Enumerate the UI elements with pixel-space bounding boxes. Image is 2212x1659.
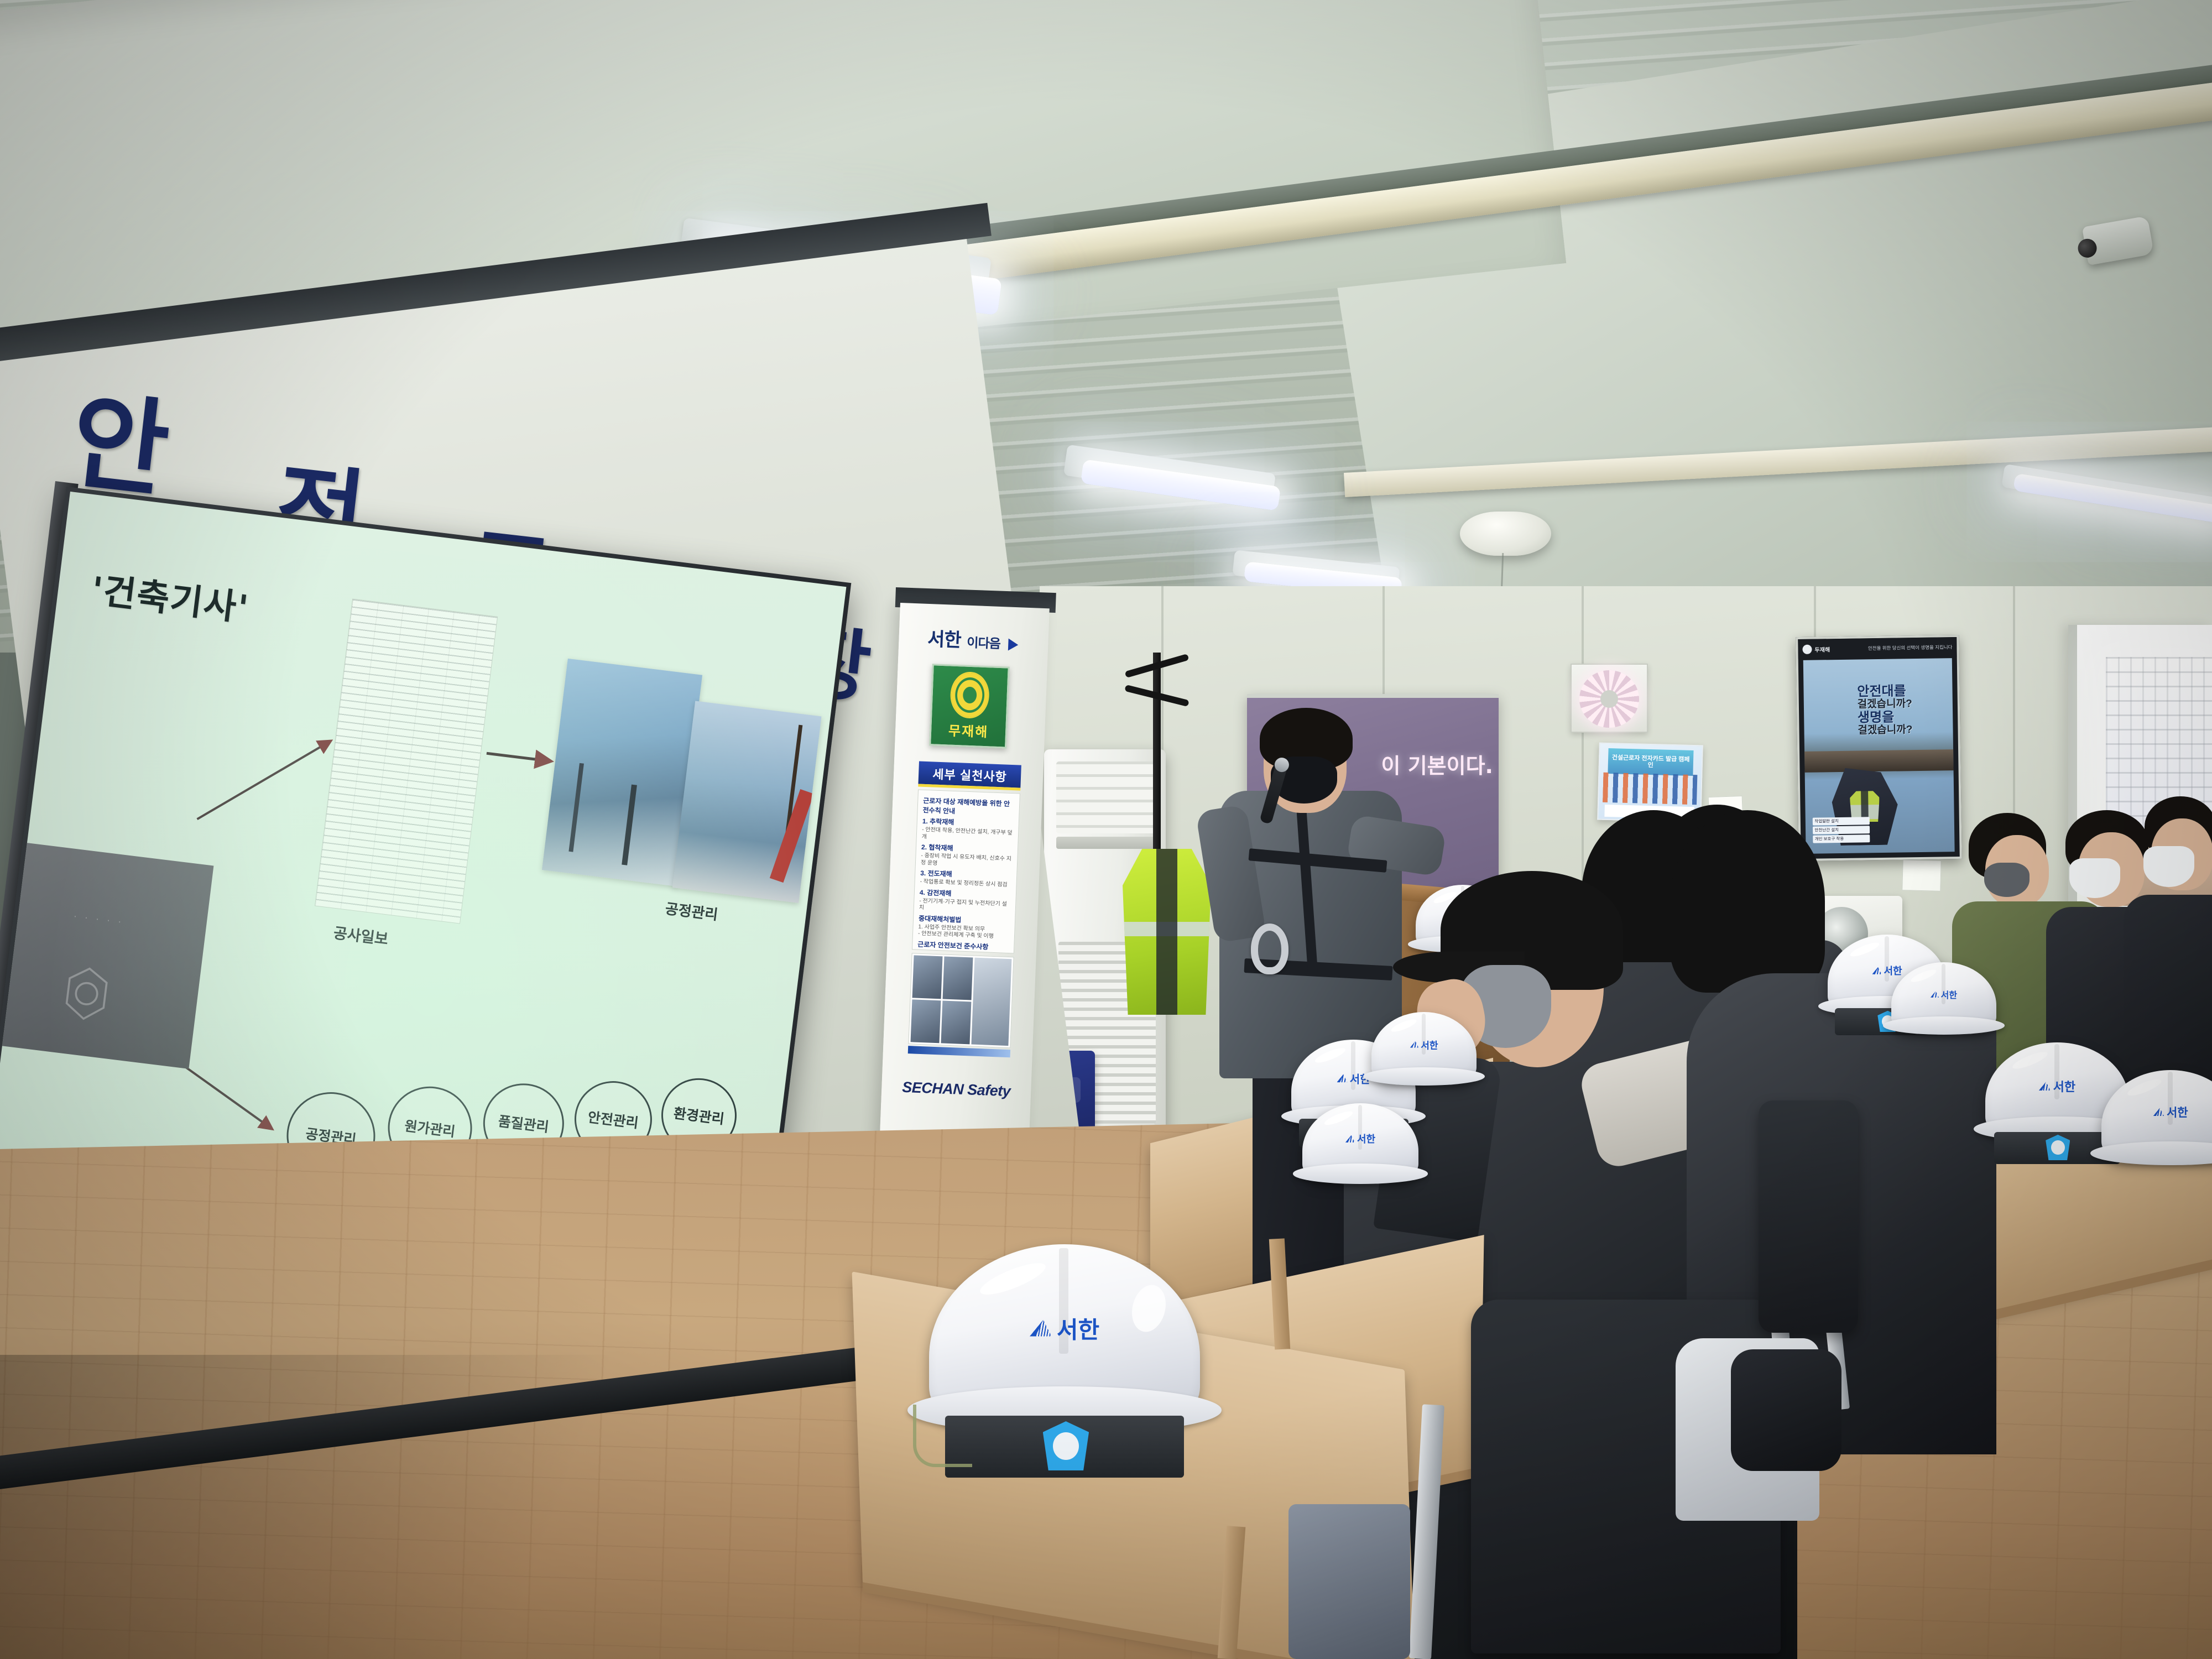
notice-photo (942, 957, 973, 1000)
poster-brand-icon (1802, 644, 1812, 654)
helmet-logo-icon (1872, 967, 1881, 974)
zero-accident-plate: 무재해 (929, 664, 1010, 748)
notice-item-detail: - 안전대 착용, 안전난간 설치, 개구부 덮개 (922, 827, 1014, 844)
poster-headline-line1: 안전대를 (1857, 684, 1906, 699)
company-info-pillar: 서한 이다음 무재해 세부 실천사항 근로자 대상 재해예방을 위한 안전수칙 … (877, 603, 1050, 1217)
helmet-brand-text: 서한 (2053, 1077, 2075, 1095)
poster-tagline: 안전을 위한 당신의 선택이 생명을 지킵니다 (1868, 644, 1953, 651)
safety-training-room-photo: 이 기본이다. 건설근로자 전자카드 발급 캠페인 두재해 안전을 위한 당신의… (0, 0, 2212, 1659)
pillar-footer-brand: SECHAN Safety (893, 1078, 1020, 1100)
chair-back-right[interactable] (1759, 1100, 1858, 1333)
notice-photo (911, 999, 941, 1043)
smoke-detector-icon (1460, 512, 1551, 556)
slide-title: '건축기사' (89, 561, 253, 631)
helmet-brand-text: 서한 (1941, 988, 1957, 1001)
helmet-logo-icon (1410, 1041, 1418, 1048)
brand-main: 서한 (927, 628, 961, 651)
poster-headline-line3: 생명을 (1858, 709, 1895, 725)
helmet-brand-text: 서한 (1357, 1131, 1375, 1146)
brand-flag-icon (1008, 639, 1019, 651)
poster-chip: 개인 보호구 착용 (1813, 834, 1870, 843)
construction-daily-report-thumbnail (315, 599, 498, 924)
attendee-shoe (1731, 1349, 1841, 1471)
notice-body: 근로자 대상 재해예방을 위한 안전수칙 안내 1. 추락재해 - 안전대 착용… (912, 789, 1020, 953)
slide-logo-panel: · · · · · (0, 840, 213, 1069)
helmet-logo-icon (2039, 1082, 2051, 1091)
poster-headline-line4: 걸겠습니까? (1858, 724, 1950, 737)
helmet-logo-icon (1345, 1135, 1355, 1142)
helmet-brand-logo: 서한 (2039, 1077, 2075, 1095)
notice-photo (912, 955, 943, 999)
helmet-logo-icon (1337, 1074, 1347, 1082)
helmet-brand-logo: 서한 (2153, 1104, 2188, 1120)
helmet-logo-icon (2153, 1108, 2164, 1116)
poster-headline: 안전대를 걸겠습니까? 생명을 걸겠습니까? (1857, 684, 1950, 737)
helmet-chin-strap (913, 1405, 973, 1467)
notice-photo (971, 958, 1011, 1046)
notice-photo (941, 1000, 971, 1044)
poster-steel-beam (1804, 749, 1954, 773)
poster-header-bar: 두재해 안전을 위한 당신의 선택이 생명을 지킵니다 (1798, 637, 1957, 659)
notice-photo-grid (908, 953, 1014, 1048)
company-brand: 서한 이다음 (906, 623, 1040, 655)
notice-header: 세부 실천사항 (918, 761, 1021, 791)
brand-sub: 이다음 (967, 636, 1000, 651)
poster-brand-label: 두재해 (1814, 645, 1830, 653)
attendee-leg-foreground (1288, 1504, 1410, 1659)
notice-footer-bar (908, 1046, 1010, 1057)
campaign-poster-title: 건설근로자 전자카드 발급 캠페인 (1608, 748, 1694, 776)
doc-caption: 공사일보 (332, 921, 389, 949)
slide-logo-icon (49, 958, 123, 1032)
poster-chip-list: 작업발판 설치 안전난간 설치 개인 보호구 착용 (1813, 817, 1870, 844)
notice-item-detail: - 전기기계·기구 접지 및 누전차단기 설치 (919, 898, 1011, 915)
helmet-brand-text: 서한 (2167, 1104, 2188, 1120)
carabiner-hook-icon (1251, 924, 1288, 974)
notice-item-detail: - 중장비 작업 시 유도자 배치, 신호수 지정 운영 (921, 853, 1013, 870)
helmet-brand-text: 서한 (1884, 963, 1902, 978)
poster-chip: 안전난간 설치 (1813, 826, 1869, 834)
site-photo-2 (672, 701, 822, 902)
helmet-brand-logo: 서한 (1931, 988, 1957, 1001)
helmet-brand-text: 서한 (1421, 1037, 1438, 1051)
helmet-brand-logo: 서한 (1030, 1311, 1099, 1345)
helmet-logo-icon (1931, 991, 1939, 998)
sign-char-1: 안 (66, 388, 174, 504)
photo-caption: 공정관리 (664, 898, 719, 924)
notice-title: 근로자 대상 재해예방을 위한 안전수칙 안내 (922, 796, 1014, 818)
helmet-logo-icon (1030, 1320, 1052, 1337)
zero-accident-icon (951, 672, 989, 717)
helmet-brand-logo: 서한 (1410, 1037, 1438, 1051)
slide-logo-text: · · · · · (29, 905, 168, 934)
poster-artwork: 안전대를 걸겠습니까? 생명을 걸겠습니까? 작업발판 설치 안전난간 설치 개… (1803, 658, 1955, 854)
zero-accident-label: 무재해 (948, 719, 989, 740)
helmet-brand-logo: 서한 (1872, 963, 1902, 978)
wall-memo-2 (1902, 859, 1941, 891)
helmet-brand-logo: 서한 (1345, 1131, 1375, 1146)
safety-harness-poster: 두재해 안전을 위한 당신의 선택이 생명을 지킵니다 안전대를 걸겠습니까? … (1796, 635, 1962, 861)
hi-vis-vest (1123, 849, 1211, 1015)
poster-chip: 작업발판 설치 (1813, 817, 1869, 825)
campaign-poster-figures (1603, 772, 1697, 805)
helmet-brand-text: 서한 (1057, 1311, 1099, 1345)
banner-text: 이 기본이다. (1381, 749, 1493, 779)
poster-headline-line2: 걸겠습니까? (1858, 698, 1950, 711)
wall-exhaust-fan-icon (1571, 664, 1648, 733)
